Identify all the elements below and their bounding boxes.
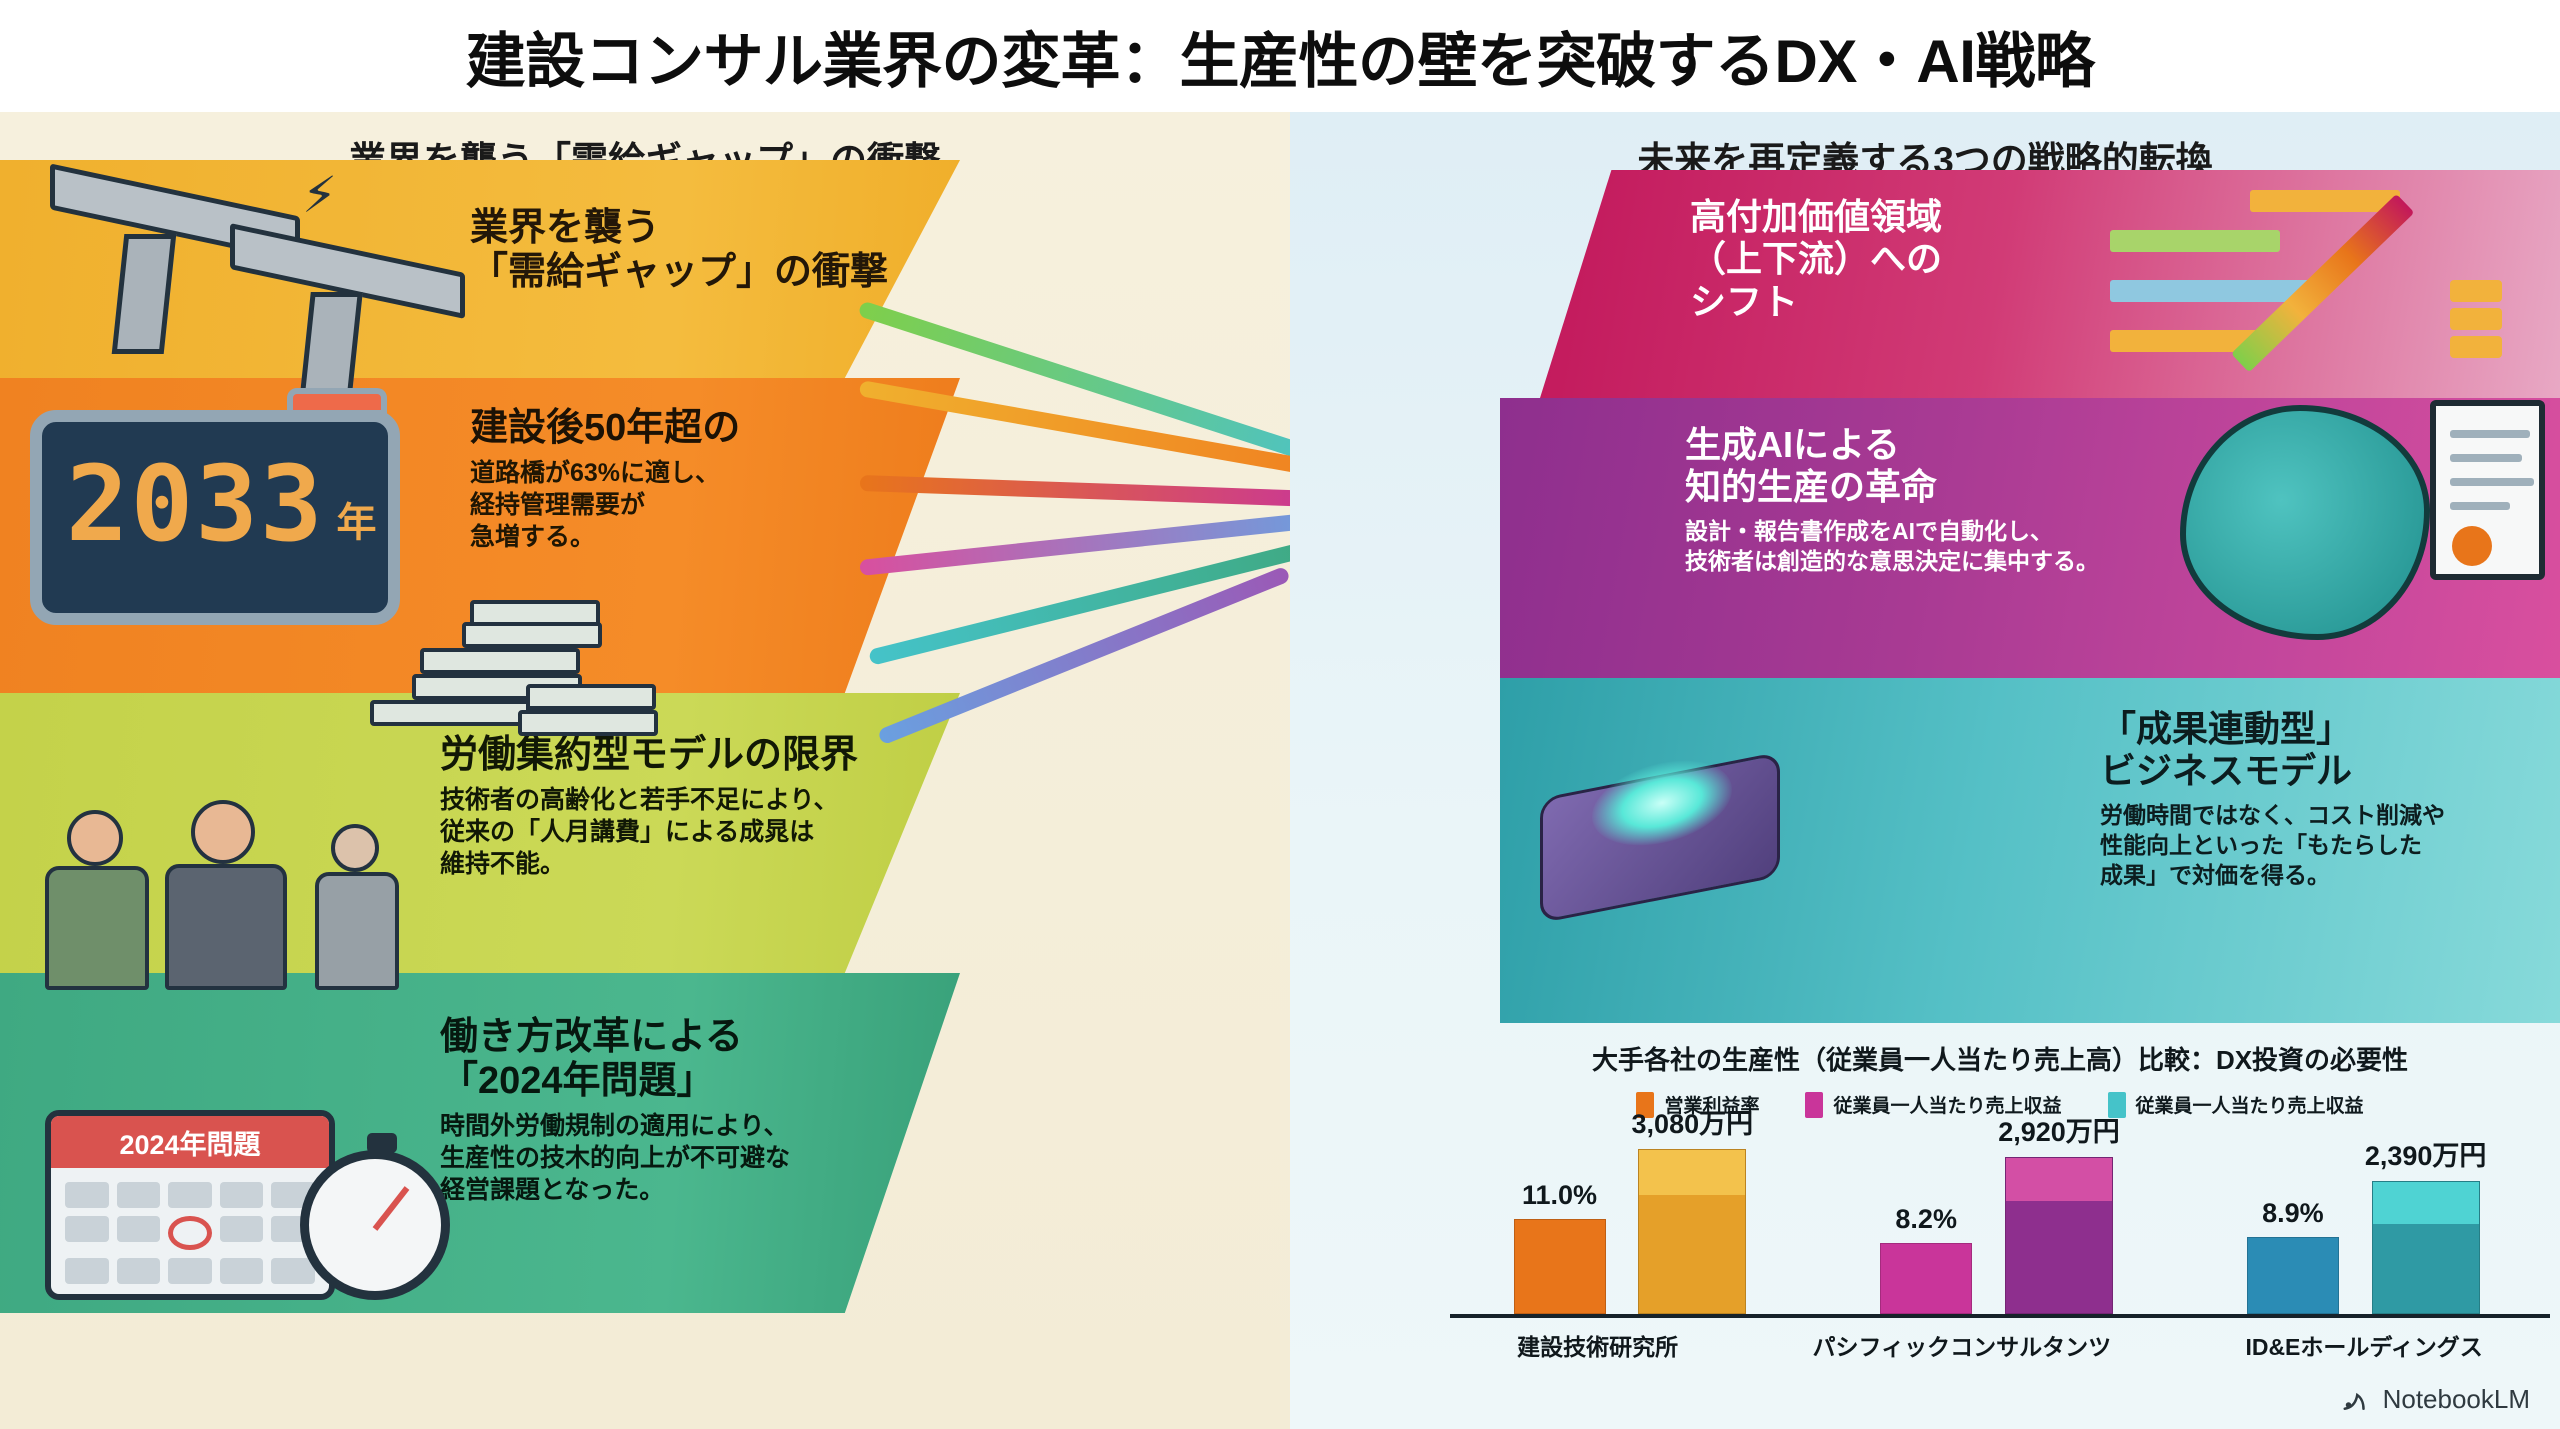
chart-bar-rate-label-2: 8.2% [1895, 1204, 1957, 1235]
chart-bar-revenue-label-2: 2,920万円 [1998, 1110, 2120, 1149]
left-card-4-body: 時間外労働規制の適用により、 生産性の技木的向上が不可避な 経営課題となった。 [440, 1110, 790, 1206]
right-card-1-title-line1: 高付加価値領域 [1690, 196, 1942, 237]
chart-category-3: ID&Eホールディングス [2245, 1328, 2482, 1362]
right-card-2-title-line2: 知的生産の革命 [1685, 466, 1937, 507]
clock-button [287, 388, 387, 416]
chart-category-1: 建設技術研究所 [1517, 1328, 1678, 1362]
chart-bar-revenue-2[interactable]: 2,920万円 [1998, 1110, 2120, 1314]
chart-bar-rate-1[interactable]: 11.0% [1514, 1180, 1606, 1314]
clock-year-suffix: 年 [336, 490, 376, 548]
left-card-2-body: 道路橋が63%に適し、 経持管理需要が 急増する。 [470, 457, 740, 553]
calendar-icon: 2024年問題 [45, 1110, 335, 1300]
calendar-header-label: 2024年問題 [51, 1116, 329, 1168]
page-title: 建設コンサル業界の変革：生産性の壁を突破するDX・AI戦略 [466, 13, 2095, 100]
aging-workforce-icon [35, 800, 435, 990]
legend-label-3: 従業員一人当たり売上収益 [2136, 1091, 2364, 1118]
legend-swatch-2 [1805, 1092, 1823, 1118]
chart-title: 大手各社の生産性（従業員一人当たり売上高）比較：DX投資の必要性 [1440, 1040, 2560, 1077]
left-card-2-title: 建設後50年超の [470, 406, 740, 450]
notebooklm-watermark: NotebookLM [2341, 1384, 2530, 1415]
chart-category-labels: 建設技術研究所 パシフィックコンサルタンツ ID&Eホールディングス [1450, 1328, 2550, 1362]
growth-arrows-icon [2110, 170, 2540, 400]
stopwatch-icon [300, 1150, 450, 1300]
chart-bar-rate-2[interactable]: 8.2% [1880, 1204, 1972, 1314]
watermark-text: NotebookLM [2383, 1384, 2530, 1415]
chart-bar-revenue-3[interactable]: 2,390万円 [2365, 1134, 2487, 1314]
chart-bar-revenue-label-1: 3,080万円 [1632, 1102, 1754, 1141]
chart-category-2: パシフィックコンサルタンツ [1813, 1328, 2112, 1362]
notebooklm-logo-icon [2341, 1385, 2371, 1415]
legend-item-3: 従業員一人当たり売上収益 [2108, 1091, 2364, 1118]
chart-bar-rate-3[interactable]: 8.9% [2247, 1198, 2339, 1314]
calendar-marked-day [168, 1216, 212, 1250]
chart-x-axis [1450, 1314, 2550, 1318]
chart-plot-area: 11.0% 3,080万円 8.2% [1440, 1134, 2560, 1364]
chart-bar-rate-label-1: 11.0% [1522, 1180, 1597, 1211]
chart-bar-revenue-1[interactable]: 3,080万円 [1632, 1102, 1754, 1314]
right-card-3-title-line2: ビジネスモデル [2100, 750, 2352, 791]
ai-brain-icon [2180, 405, 2430, 640]
productivity-bar-chart: 大手各社の生産性（従業員一人当たり売上高）比較：DX投資の必要性 営業利益率 従… [1440, 1040, 2560, 1429]
left-card-4-title-line1: 働き方改革による [440, 1016, 743, 1058]
chart-group-1: 11.0% 3,080万円 [1514, 1102, 1754, 1314]
title-bar: 建設コンサル業界の変革：生産性の壁を突破するDX・AI戦略 [0, 0, 2560, 112]
right-card-1-title-line3: シフト [1690, 281, 1798, 322]
calendar-grid [51, 1168, 329, 1298]
chip-icon [1510, 715, 1810, 940]
right-card-3-title-line1: 「成果連動型」 [2100, 708, 2352, 749]
left-card-1-title-line2: 「需給ギャップ」の衝撃 [470, 251, 888, 293]
clock-year-value: 2033 [66, 452, 324, 556]
infographic-page: 建設コンサル業界の変革：生産性の壁を突破するDX・AI戦略 業界を襲う「需給ギャ… [0, 0, 2560, 1429]
chart-group-3: 8.9% 2,390万円 [2247, 1134, 2487, 1314]
left-card-4-title-line2: 「2024年問題」 [440, 1060, 715, 1102]
money-stacks-icon [350, 600, 670, 750]
chart-bar-groups: 11.0% 3,080万円 8.2% [1450, 1134, 2550, 1314]
broken-bridge-icon: ⚡ [40, 130, 460, 390]
left-card-3-body: 技術者の高齢化と若手不足により、 従来の「人月講費」による成晁は 維持不能。 [440, 784, 858, 880]
left-card-1-title-line1: 業界を襲う [470, 207, 660, 249]
right-card-2-title-line1: 生成AIによる [1685, 424, 1900, 465]
document-icon [2430, 400, 2545, 580]
chart-bar-revenue-label-3: 2,390万円 [2365, 1134, 2487, 1173]
right-card-1-title-line2: （上下流）への [1690, 238, 1942, 279]
right-card-2-body: 設計・報告書作成をAIで自動化し、 技術者は創造的な意思決定に集中する。 [1685, 517, 2099, 577]
chart-bar-rate-label-3: 8.9% [2262, 1198, 2324, 1229]
digital-clock-icon: 2033 年 [30, 410, 400, 625]
chart-group-2: 8.2% 2,920万円 [1880, 1110, 2120, 1314]
right-card-3-body: 労働時間ではなく、コスト削減や 性能向上といった「もたらした 成果」で対価を得る… [2100, 801, 2445, 891]
